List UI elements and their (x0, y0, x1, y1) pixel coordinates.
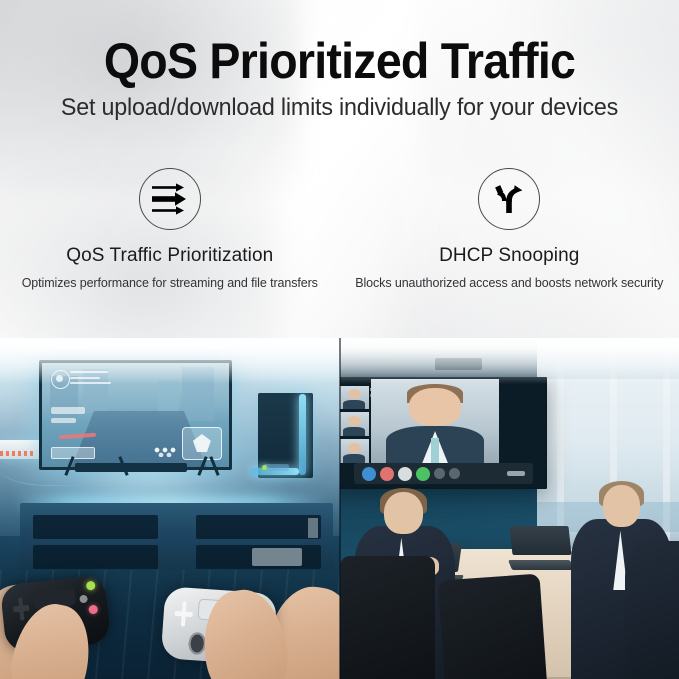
video-call-display (340, 377, 547, 488)
camera-button[interactable] (449, 468, 460, 479)
ceiling-projector (435, 358, 482, 370)
feature-qos-traffic-prioritization: QoS Traffic Prioritization Optimizes per… (0, 168, 340, 291)
television (39, 360, 232, 470)
participant-thumbnail (340, 412, 369, 436)
join-call-button[interactable] (416, 467, 430, 481)
hero-section: QoS Prioritized Traffic Set upload/downl… (0, 0, 679, 345)
game-hud-bar (70, 377, 100, 379)
laptop-keyboard-base (508, 560, 574, 570)
end-call-button[interactable] (380, 467, 394, 481)
share-screen-button[interactable] (362, 467, 376, 481)
console-shelf (196, 515, 321, 539)
attendee-suit (625, 541, 679, 679)
attendee-head (384, 492, 423, 534)
office-chair (340, 556, 435, 679)
media-console (20, 503, 333, 575)
road-fork-icon (478, 168, 540, 230)
laptop-right (510, 526, 571, 570)
controller-dpad (12, 597, 31, 622)
page-title: QoS Prioritized Traffic (24, 32, 655, 90)
room-ceiling (340, 338, 679, 379)
feature-title: QoS Traffic Prioritization (66, 244, 273, 268)
participant-thumbnail (340, 439, 369, 463)
participant-avatar[interactable] (398, 467, 412, 481)
video-call-toolbar[interactable] (354, 463, 533, 484)
attendee-head (603, 485, 640, 527)
game-hud-bar (70, 371, 107, 373)
speaker-tie (431, 438, 439, 463)
console-shelf (33, 515, 158, 539)
speaker-head (409, 388, 460, 427)
gaming-room-scene (0, 338, 340, 679)
shelf-book (308, 518, 317, 538)
gaming-setup-photo (0, 338, 340, 679)
attendee-far-right (625, 529, 679, 679)
game-hud-panel (51, 407, 85, 414)
controller-analog-stick (188, 633, 206, 656)
video-conference-photo (340, 338, 679, 679)
photo-divider (339, 338, 341, 679)
game-hud-dots (153, 447, 179, 457)
controller-button-green (86, 581, 96, 591)
feature-description: Blocks unauthorized access and boosts ne… (355, 275, 663, 291)
game-hud-bar (70, 382, 111, 384)
tv-stand (75, 463, 187, 472)
more-options-button[interactable] (507, 471, 525, 476)
game-hud-icon-panel (182, 427, 221, 460)
controller-button (80, 594, 89, 603)
pc-tower (258, 393, 312, 478)
pc-tower-led-strip (299, 394, 306, 476)
feature-description: Optimizes performance for streaming and … (22, 275, 318, 291)
page-subtitle: Set upload/download limits individually … (10, 92, 669, 124)
feature-title: DHCP Snooping (439, 244, 579, 268)
participant-thumbnail (340, 386, 369, 410)
storage-box (252, 548, 302, 567)
microphone-button[interactable] (434, 468, 445, 479)
feature-dhcp-snooping: DHCP Snooping Blocks unauthorized access… (340, 168, 679, 291)
game-hud-panel (51, 418, 75, 423)
product-feature-banner: QoS Prioritized Traffic Set upload/downl… (0, 0, 679, 679)
controller-dpad (174, 602, 194, 628)
conference-room-scene (340, 338, 679, 679)
office-chair (437, 573, 547, 679)
laptop-screen (509, 526, 571, 555)
console-shelf (33, 545, 158, 569)
tv-screen (42, 363, 229, 467)
pc-tower-front-panel (264, 464, 289, 471)
active-speaker-video (371, 379, 499, 463)
game-building (182, 367, 214, 421)
three-arrows-icon (139, 168, 201, 230)
controller-button-pink (88, 604, 98, 614)
game-building (83, 369, 107, 413)
feature-list: QoS Traffic Prioritization Optimizes per… (0, 168, 679, 291)
